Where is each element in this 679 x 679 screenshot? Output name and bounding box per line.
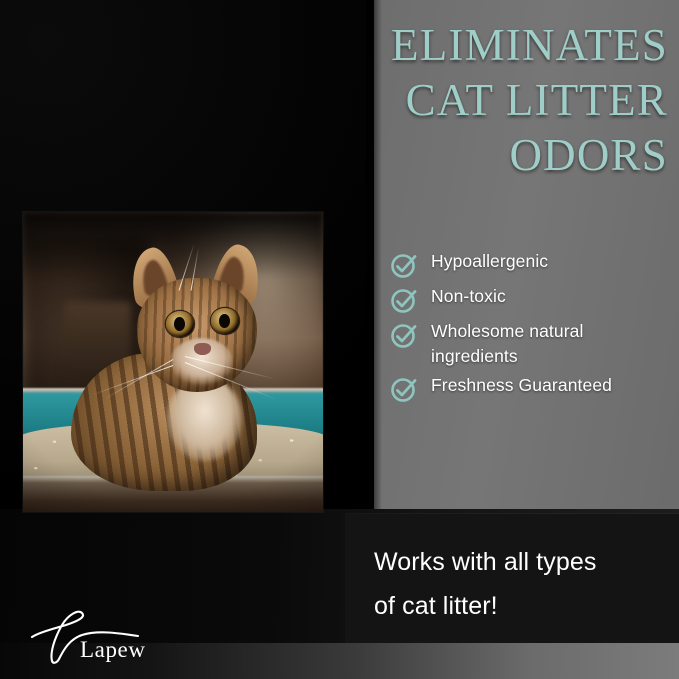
callout-box: Works with all types of cat litter!	[345, 514, 679, 643]
kitten-pupil-left	[174, 317, 185, 331]
product-photo	[23, 212, 323, 512]
feature-item: Wholesome natural ingredients	[389, 319, 674, 369]
brand-logo: Lapew	[26, 603, 186, 665]
headline-line-1: ELIMINATES	[288, 18, 668, 73]
feature-label: Freshness Guaranteed	[431, 373, 612, 398]
check-circle-icon	[389, 285, 419, 315]
feature-list: Hypoallergenic Non-toxic Wholesome natur…	[389, 249, 674, 408]
feature-label: Non-toxic	[431, 284, 506, 309]
callout-line-2: of cat litter!	[374, 584, 659, 628]
callout-line-1: Works with all types	[374, 540, 659, 584]
check-circle-icon	[389, 250, 419, 280]
feature-item: Freshness Guaranteed	[389, 373, 674, 404]
headline-line-2: CAT LITTER	[288, 73, 668, 128]
headline: ELIMINATES CAT LITTER ODORS	[288, 18, 668, 183]
check-circle-icon	[389, 320, 419, 350]
feature-label: Hypoallergenic	[431, 249, 548, 274]
advertisement-banner: ELIMINATES CAT LITTER ODORS	[0, 0, 679, 679]
feature-item: Hypoallergenic	[389, 249, 674, 280]
photo-top-shadow	[23, 212, 323, 278]
feature-label: Wholesome natural ingredients	[431, 319, 661, 369]
logo-wordmark: Lapew	[80, 637, 146, 663]
check-circle-icon	[389, 374, 419, 404]
kitten-nose	[194, 343, 211, 355]
feature-item: Non-toxic	[389, 284, 674, 315]
kitten-pupil-right	[219, 314, 230, 328]
headline-line-3: ODORS	[288, 128, 668, 183]
callout-text: Works with all types of cat litter!	[374, 540, 659, 628]
photo-scene	[23, 212, 323, 512]
